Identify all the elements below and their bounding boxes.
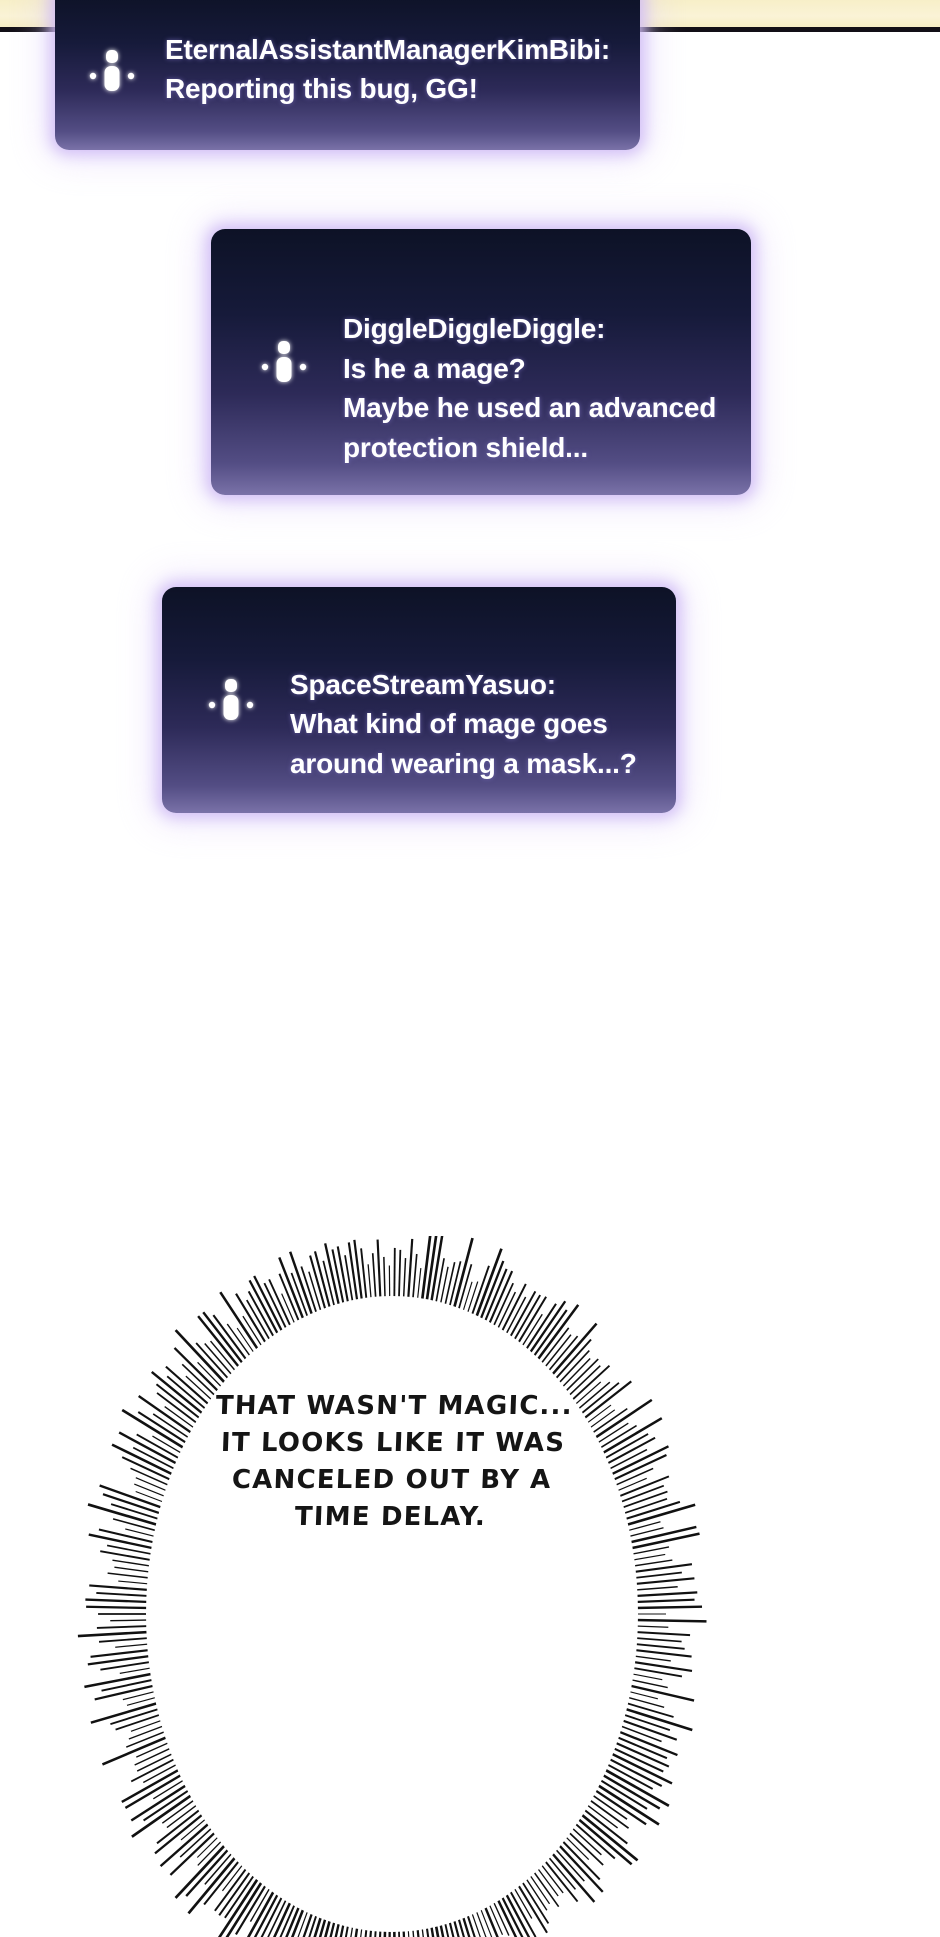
comic-panel: EternalAssistantManagerKimBibi: Reportin… xyxy=(0,0,940,1937)
user-glow-icon xyxy=(81,40,143,102)
starburst-narration-balloon xyxy=(72,1236,712,1937)
user-glow-icon xyxy=(253,331,315,393)
chat-bubble-space-stream-yasuo[interactable]: SpaceStreamYasuo: What kind of mage goes… xyxy=(162,587,676,813)
chat-bubble-diggle-diggle-diggle[interactable]: DiggleDiggleDiggle: Is he a mage? Maybe … xyxy=(211,229,751,495)
narration-text: THAT WASN'T MAGIC... IT LOOKS LIKE IT WA… xyxy=(93,1388,691,1558)
chat-message-text: SpaceStreamYasuo: What kind of mage goes… xyxy=(290,665,658,784)
chat-message-text: EternalAssistantManagerKimBibi: Reportin… xyxy=(165,30,622,108)
chat-bubble-eternal-assistant-manager-kim-bibi[interactable]: EternalAssistantManagerKimBibi: Reportin… xyxy=(55,0,640,150)
chat-message-text: DiggleDiggleDiggle: Is he a mage? Maybe … xyxy=(343,309,733,467)
user-glow-icon xyxy=(200,669,262,731)
